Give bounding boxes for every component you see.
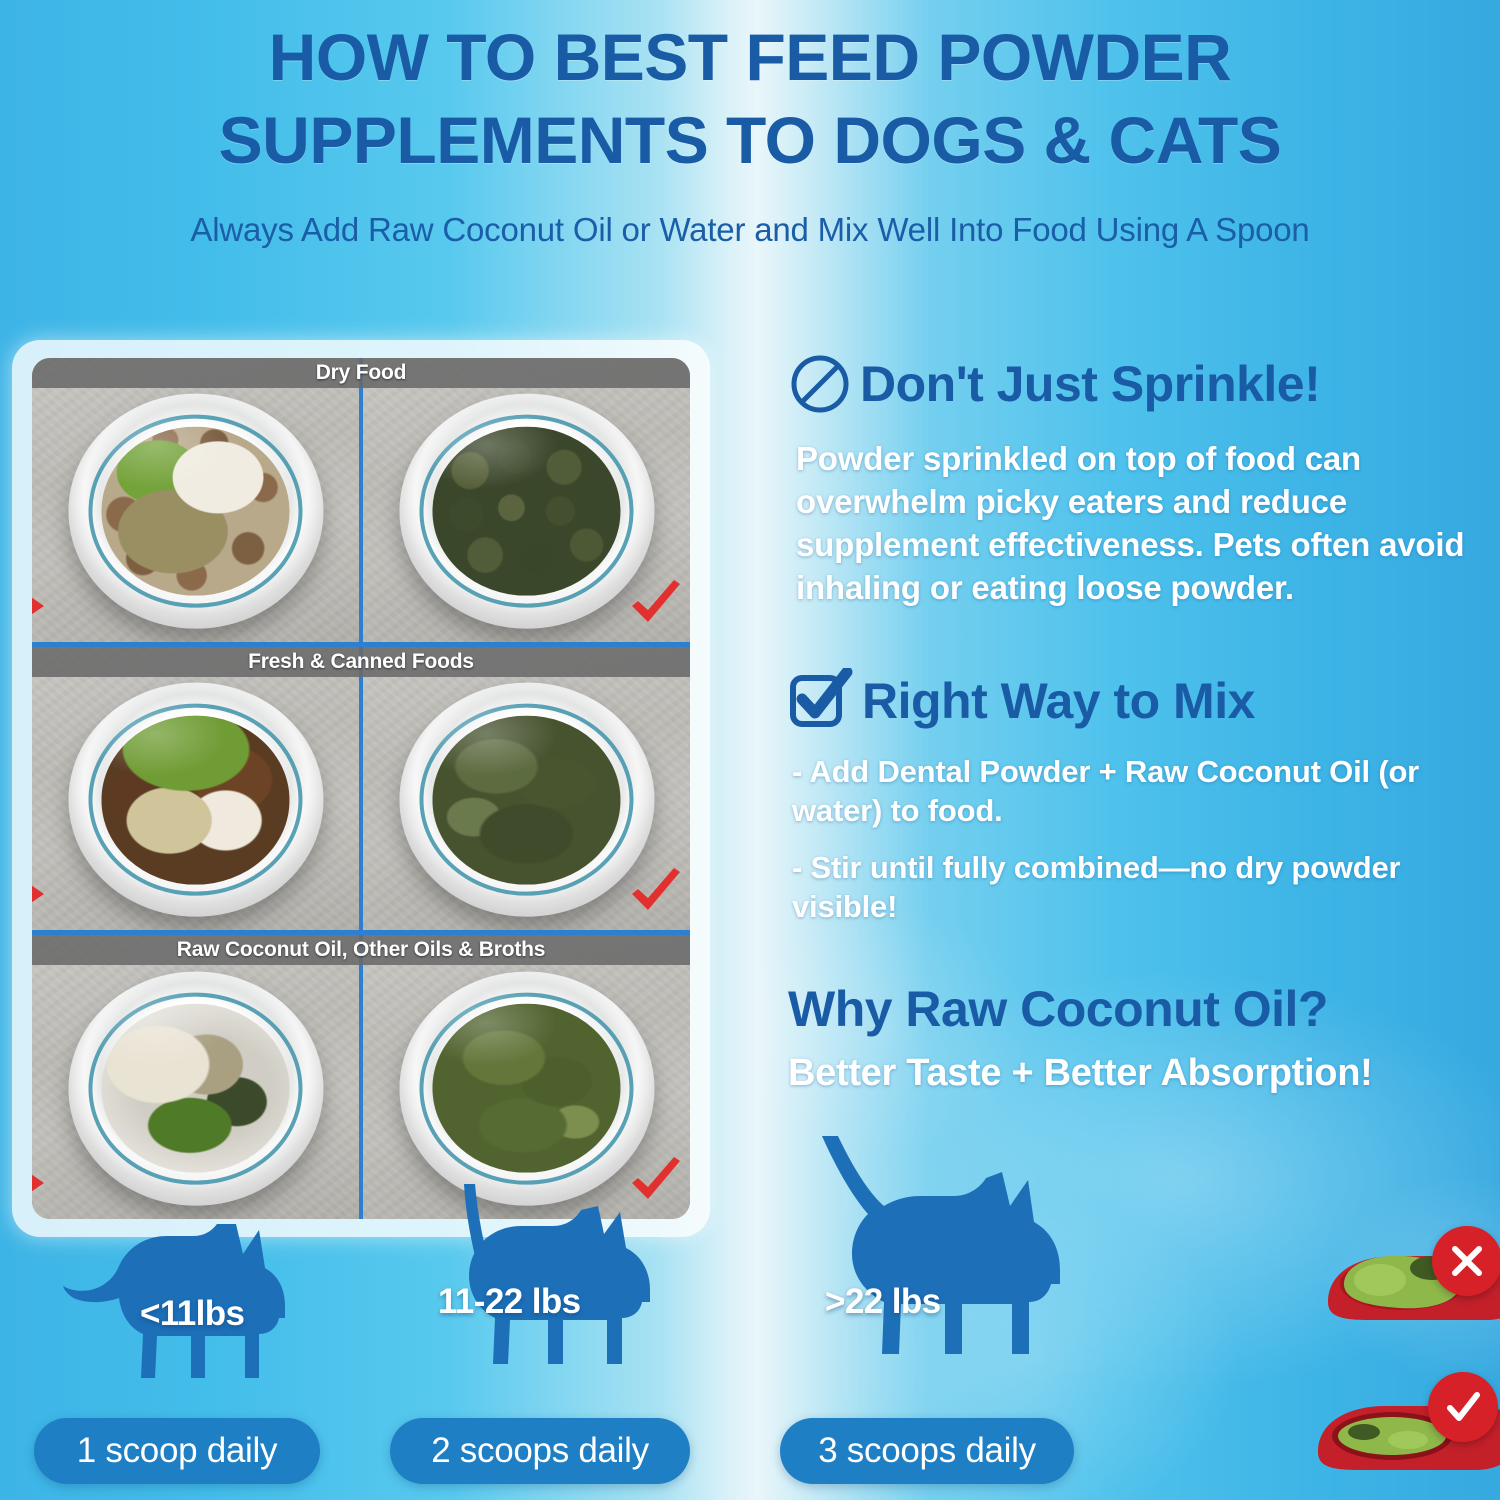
x-icon bbox=[1447, 1241, 1487, 1281]
heading-text: Don't Just Sprinkle! bbox=[860, 359, 1320, 409]
food-bowl bbox=[68, 683, 323, 918]
scoop-overfilled bbox=[1310, 1240, 1500, 1360]
bowl-highlight bbox=[68, 971, 323, 1206]
photo-comparison-panel: Dry Food bbox=[12, 340, 710, 1237]
dose-pill-small: 1 scoop daily bbox=[34, 1418, 320, 1484]
check-icon bbox=[1441, 1385, 1485, 1429]
red-check-icon bbox=[626, 576, 686, 636]
food-bowl bbox=[399, 683, 654, 918]
row-label-dry-food: Dry Food bbox=[32, 358, 690, 388]
row-label-fresh-canned: Fresh & Canned Foods bbox=[32, 647, 690, 677]
photo-cell-dry-mixed bbox=[363, 358, 690, 642]
dose-label: 1 scoop daily bbox=[77, 1431, 277, 1471]
food-bowl bbox=[399, 394, 654, 629]
section-heading-why-coconut-oil: Why Raw Coconut Oil? bbox=[788, 984, 1488, 1034]
photo-row-fresh-canned: Fresh & Canned Foods bbox=[32, 647, 690, 936]
weight-label-large: >22 lbs bbox=[825, 1282, 940, 1322]
right-way-bullet-1: - Add Dental Powder + Raw Coconut Oil (o… bbox=[792, 752, 1488, 830]
title-line-2: SUPPLEMENTS TO DOGS & CATS bbox=[70, 93, 1430, 176]
bowl-highlight bbox=[68, 394, 323, 629]
cat-large-icon bbox=[730, 1136, 1080, 1406]
bowl-highlight bbox=[68, 683, 323, 918]
page-subtitle: Always Add Raw Coconut Oil or Water and … bbox=[0, 177, 1500, 249]
bowl-highlight bbox=[399, 394, 654, 629]
page-title: HOW TO BEST FEED POWDER SUPPLEMENTS TO D… bbox=[0, 0, 1500, 177]
scoop-level bbox=[1300, 1390, 1500, 1500]
photo-cell-oil-unmixed bbox=[32, 935, 363, 1219]
right-way-bullet-2: - Stir until fully combined—no dry powde… bbox=[792, 848, 1488, 926]
dose-pill-medium: 2 scoops daily bbox=[390, 1418, 690, 1484]
weight-label-medium: 11-22 lbs bbox=[438, 1282, 580, 1322]
heading-text: Right Way to Mix bbox=[862, 676, 1255, 726]
dont-sprinkle-body: Powder sprinkled on top of food can over… bbox=[796, 438, 1488, 610]
weight-label-small: <11lbs bbox=[140, 1294, 244, 1334]
dose-label: 3 scoops daily bbox=[818, 1431, 1036, 1471]
scoop-check-badge bbox=[1428, 1372, 1498, 1442]
photo-cell-dry-unmixed bbox=[32, 358, 363, 642]
red-check-icon bbox=[626, 1153, 686, 1213]
checkbox-checked-icon bbox=[788, 668, 854, 734]
scoop-x-badge bbox=[1432, 1226, 1500, 1296]
right-content-column: Don't Just Sprinkle! Powder sprinkled on… bbox=[788, 352, 1488, 1095]
food-bowl bbox=[68, 394, 323, 629]
title-line-1: HOW TO BEST FEED POWDER bbox=[70, 0, 1430, 93]
infographic-canvas: HOW TO BEST FEED POWDER SUPPLEMENTS TO D… bbox=[0, 0, 1500, 1500]
row-label-oils-broths: Raw Coconut Oil, Other Oils & Broths bbox=[32, 935, 690, 965]
dose-label: 2 scoops daily bbox=[431, 1431, 649, 1471]
section-heading-right-way: Right Way to Mix bbox=[788, 668, 1488, 734]
dose-pill-large: 3 scoops daily bbox=[780, 1418, 1074, 1484]
photo-row-dry-food: Dry Food bbox=[32, 358, 690, 647]
red-x-icon bbox=[32, 1153, 70, 1213]
prohibition-icon bbox=[788, 352, 852, 416]
photo-cell-wet-unmixed bbox=[32, 647, 363, 931]
bowl-highlight bbox=[399, 683, 654, 918]
section-heading-dont-sprinkle: Don't Just Sprinkle! bbox=[788, 352, 1488, 416]
food-bowl bbox=[68, 971, 323, 1206]
photo-cell-wet-mixed bbox=[363, 647, 690, 931]
red-x-icon bbox=[32, 576, 70, 636]
red-x-icon bbox=[32, 864, 70, 924]
header: HOW TO BEST FEED POWDER SUPPLEMENTS TO D… bbox=[0, 0, 1500, 249]
red-check-icon bbox=[626, 864, 686, 924]
why-coconut-oil-subhead: Better Taste + Better Absorption! bbox=[788, 1052, 1488, 1095]
photo-grid: Dry Food bbox=[32, 358, 690, 1219]
